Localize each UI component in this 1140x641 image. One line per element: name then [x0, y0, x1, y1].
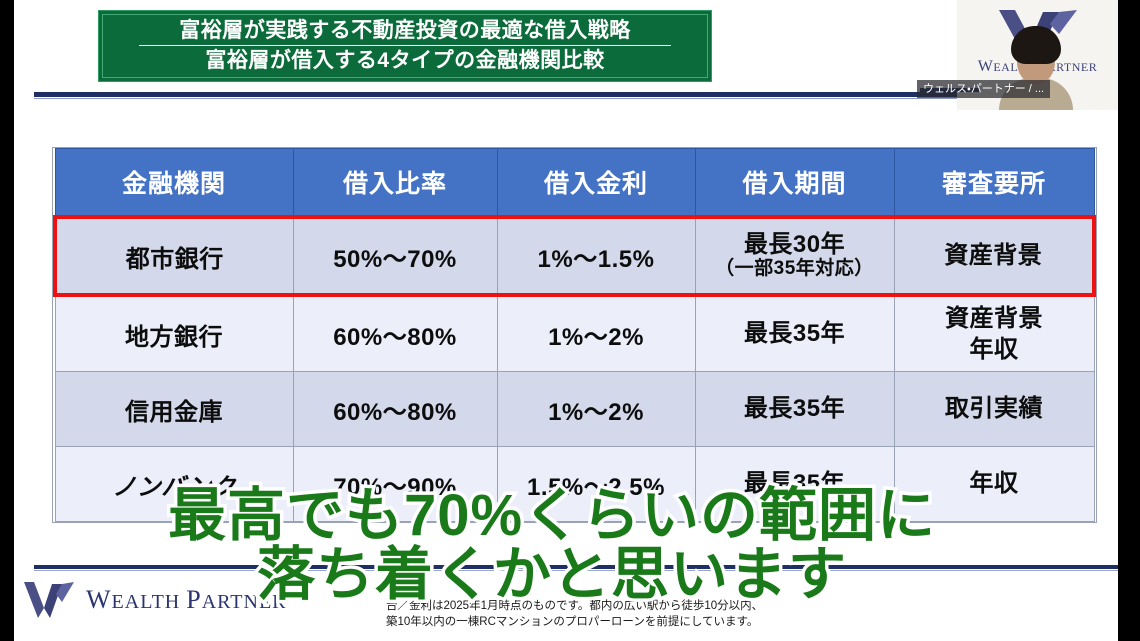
- table-row: 信用金庫 60%〜80% 1%〜2% 最長35年 取引実績: [55, 372, 1094, 447]
- footnote-line-1: さい。: [386, 581, 1046, 598]
- title-line-1: 富裕層が実践する不動産投資の最適な借入戦略: [139, 20, 671, 46]
- cell-term-main: 最長35年: [696, 470, 894, 498]
- title-box: 富裕層が実践する不動産投資の最適な借入戦略 富裕層が借入する4タイプの金融機関比…: [98, 10, 712, 82]
- footer-divider: [34, 565, 1118, 569]
- comparison-table-wrapper: 金融機関 借入比率 借入金利 借入期間 審査要所 都市銀行 50%〜70% 1%…: [53, 148, 1092, 522]
- cell-rate: 1.5%〜2.5%: [497, 447, 695, 522]
- cell-ratio: 60%〜80%: [293, 372, 497, 447]
- cell-term-main: 最長35年: [696, 395, 894, 423]
- footnote-block: さい。 台／金利は2025年1月時点のものです。都内の広い駅から徒歩10分以内、…: [386, 581, 1046, 631]
- letterbox-left: [0, 0, 14, 641]
- logo-p: P: [186, 585, 201, 614]
- table-row: ノンバンク 70%〜90% 1.5%〜2.5% 最長35年 年収: [55, 447, 1094, 522]
- cell-rate: 1%〜2%: [497, 372, 695, 447]
- logo-artner: ARTNER: [202, 591, 287, 613]
- cell-institution: 信用金庫: [55, 372, 293, 447]
- footnote-line-2: 台／金利は2025年1月時点のものです。都内の広い駅から徒歩10分以内、: [386, 598, 1046, 615]
- comparison-table: 金融機関 借入比率 借入金利 借入期間 審査要所 都市銀行 50%〜70% 1%…: [53, 148, 1096, 522]
- presenter-hair: [1011, 26, 1061, 64]
- cell-term-sub: （一部35年対応）: [696, 258, 894, 281]
- presenter-silhouette: [997, 26, 1075, 110]
- cell-rate: 1%〜1.5%: [497, 217, 695, 295]
- slide-canvas: 富裕層が実践する不動産投資の最適な借入戦略 富裕層が借入する4タイプの金融機関比…: [14, 0, 1118, 641]
- cell-institution: 都市銀行: [55, 217, 293, 295]
- logo-wordmark: WEALTH PARTNER: [86, 585, 287, 615]
- footer-divider-hairline: [34, 570, 1118, 571]
- col-header-rate: 借入金利: [497, 149, 695, 218]
- cell-screening: 資産背景 年収: [894, 295, 1094, 372]
- title-band: 富裕層が実践する不動産投資の最適な借入戦略 富裕層が借入する4タイプの金融機関比…: [14, 0, 1118, 95]
- cell-term: 最長35年: [695, 372, 894, 447]
- table-row: 地方銀行 60%〜80% 1%〜2% 最長35年 資産背景 年収: [55, 295, 1094, 372]
- cell-term-main: 最長30年: [696, 231, 894, 259]
- cell-ratio: 60%〜80%: [293, 295, 497, 372]
- backdrop-logo-w: W: [978, 58, 994, 75]
- letterbox-right: [1118, 0, 1140, 641]
- webcam-overlay[interactable]: WEALTH PARTNER: [957, 0, 1118, 110]
- cell-screening: 取引実績: [894, 372, 1094, 447]
- footnote-line-3: 築10年以内の一棟RCマンションのプロパーローンを前提にしています。: [386, 614, 1046, 631]
- table-header-row: 金融機関 借入比率 借入金利 借入期間 審査要所: [55, 149, 1094, 218]
- col-header-ratio: 借入比率: [293, 149, 497, 218]
- cell-screening-line-1: 取引実績: [895, 393, 1094, 424]
- header-divider-hairline: [34, 98, 1118, 99]
- wealth-partner-logo: WEALTH PARTNER: [22, 580, 287, 620]
- table-header: 金融機関 借入比率 借入金利 借入期間 審査要所: [55, 149, 1094, 218]
- cell-term: 最長35年: [695, 295, 894, 372]
- table-body: 都市銀行 50%〜70% 1%〜1.5% 最長30年 （一部35年対応） 資産背…: [55, 217, 1094, 522]
- cell-institution: ノンバンク: [55, 447, 293, 522]
- col-header-institution: 金融機関: [55, 149, 293, 218]
- cell-screening-line-1: 資産背景: [895, 240, 1093, 271]
- cell-term: 最長30年 （一部35年対応）: [695, 217, 894, 295]
- col-header-screening: 審査要所: [894, 149, 1094, 218]
- w-mark-icon: [22, 580, 76, 620]
- cell-ratio: 70%〜90%: [293, 447, 497, 522]
- cell-institution: 地方銀行: [55, 295, 293, 372]
- cell-screening: 資産背景: [894, 217, 1094, 295]
- cell-term-main: 最長35年: [696, 320, 894, 348]
- cell-rate: 1%〜2%: [497, 295, 695, 372]
- cell-screening: 年収: [894, 447, 1094, 522]
- col-header-term: 借入期間: [695, 149, 894, 218]
- video-frame: 富裕層が実践する不動産投資の最適な借入戦略 富裕層が借入する4タイプの金融機関比…: [0, 0, 1140, 641]
- logo-ealth: EALTH: [112, 591, 187, 613]
- title-line-2: 富裕層が借入する4タイプの金融機関比較: [205, 46, 604, 72]
- cell-screening-line-1: 年収: [895, 468, 1094, 499]
- cell-term: 最長35年: [695, 447, 894, 522]
- cell-ratio: 50%〜70%: [293, 217, 497, 295]
- table-row: 都市銀行 50%〜70% 1%〜1.5% 最長30年 （一部35年対応） 資産背…: [55, 217, 1094, 295]
- logo-w: W: [86, 585, 112, 614]
- cell-screening-line-1: 資産背景: [895, 303, 1094, 334]
- title-box-inner: 富裕層が実践する不動産投資の最適な借入戦略 富裕層が借入する4タイプの金融機関比…: [102, 14, 708, 78]
- cell-screening-line-2: 年収: [895, 334, 1094, 365]
- header-divider: [34, 92, 1118, 97]
